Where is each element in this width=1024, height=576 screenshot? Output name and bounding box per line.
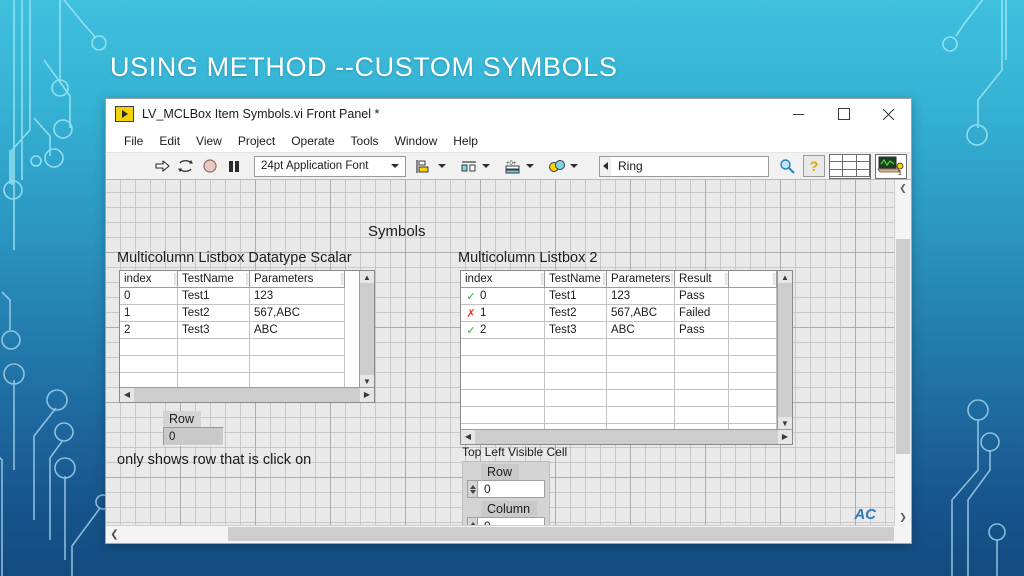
run-arrow-icon[interactable] <box>150 155 174 177</box>
front-panel-area: Symbols Multicolumn Listbox Datatype Sca… <box>106 180 911 543</box>
cell-index-value: 0 <box>480 290 486 302</box>
context-help-icon[interactable]: ? <box>803 155 825 177</box>
scroll-down-icon[interactable]: ▼ <box>360 375 374 387</box>
align-objects-icon <box>416 159 434 174</box>
table-row: ✓ 0 Test1 123 Pass <box>461 288 777 305</box>
cell-blank[interactable] <box>729 288 777 305</box>
font-selector-value: 24pt Application Font <box>261 160 387 172</box>
pass-check-icon: ✓ <box>465 290 477 303</box>
tlvc-column-value[interactable]: 0 <box>477 517 545 525</box>
column-header-blank[interactable] <box>729 271 777 288</box>
reorder-objects-icon <box>548 159 566 174</box>
note-label: only shows row that is click on <box>117 452 311 468</box>
scrollbar-corner <box>894 526 910 543</box>
table-row: 2 Test3 ABC <box>120 322 359 339</box>
hscroll-track[interactable] <box>123 526 894 543</box>
scroll-up-icon[interactable]: ▲ <box>778 271 792 283</box>
scroll-left-icon[interactable]: ❮ <box>106 529 123 540</box>
cell-index-value: 1 <box>480 307 486 319</box>
cell-index[interactable]: ✓ 2 <box>461 322 545 339</box>
cell-result[interactable]: Pass <box>675 288 729 305</box>
chevron-down-icon <box>438 164 446 168</box>
cell-testname[interactable]: Test2 <box>178 305 250 322</box>
cell-testname[interactable]: Test1 <box>178 288 250 305</box>
menu-item-project[interactable]: Project <box>230 132 283 150</box>
multicolumn-listbox-2[interactable]: index TestName Parameters Result ✓ <box>460 270 793 445</box>
table-row-empty <box>461 339 777 356</box>
slide: USING METHOD --CUSTOM SYMBOLS LV_MCLBox … <box>0 0 1024 576</box>
ac-watermark: AC <box>854 506 876 523</box>
panel-vertical-scrollbar[interactable]: ❮ ❯ <box>894 180 911 526</box>
vi-thumbnail-badge: 1 <box>898 170 902 176</box>
scroll-left-icon[interactable]: ◀ <box>461 430 475 444</box>
window-grid-icon[interactable] <box>829 154 871 179</box>
row-indicator-label: Row <box>163 411 201 427</box>
table-row: 1 Test2 567,ABC <box>120 305 359 322</box>
column-header-result[interactable]: Result <box>675 271 729 288</box>
menu-item-help[interactable]: Help <box>445 132 486 150</box>
pause-icon[interactable] <box>222 155 246 177</box>
scroll-down-icon[interactable]: ▼ <box>778 417 792 429</box>
cell-result[interactable]: Pass <box>675 322 729 339</box>
cell-parameters[interactable]: 123 <box>607 288 675 305</box>
distribute-objects-icon <box>460 159 478 174</box>
chevron-down-icon <box>570 164 578 168</box>
window-title: LV_MCLBox Item Symbols.vi Front Panel * <box>142 107 379 121</box>
maximize-button[interactable] <box>821 99 866 129</box>
search-icon[interactable] <box>775 155 799 177</box>
vi-connector-pane-icon[interactable]: 1 <box>875 154 907 179</box>
top-left-visible-cell-label: Top Left Visible Cell <box>462 445 567 459</box>
column-header-index[interactable]: index <box>120 271 178 288</box>
menu-bar: File Edit View Project Operate Tools Win… <box>106 130 911 153</box>
cell-parameters[interactable]: ABC <box>607 322 675 339</box>
right-listbox-label: Multicolumn Listbox 2 <box>458 250 597 266</box>
toolbar: 24pt Application Font <box>106 153 911 180</box>
circuit-decoration-left <box>0 0 120 576</box>
scroll-right-icon[interactable]: ▶ <box>360 388 374 402</box>
fail-cross-icon: ✗ <box>465 307 477 320</box>
cell-index-value: 2 <box>480 324 486 336</box>
menu-item-operate[interactable]: Operate <box>283 132 342 150</box>
table-header-row: index TestName Parameters Result <box>461 271 777 288</box>
column-header-parameters[interactable]: Parameters <box>607 271 675 288</box>
reorder-objects-button[interactable] <box>548 159 582 174</box>
column-header-testname[interactable]: TestName <box>178 271 250 288</box>
circuit-decoration-right <box>894 0 1024 576</box>
cell-index[interactable]: 0 <box>120 288 178 305</box>
table-row-empty <box>120 356 359 373</box>
tlvc-row-value[interactable]: 0 <box>477 480 545 498</box>
cell-blank[interactable] <box>729 322 777 339</box>
menu-item-edit[interactable]: Edit <box>151 132 188 150</box>
pass-check-icon: ✓ <box>465 324 477 337</box>
menu-item-view[interactable]: View <box>188 132 230 150</box>
listbox-vertical-scrollbar[interactable]: ▲ ▼ <box>777 271 792 429</box>
close-button[interactable] <box>866 99 911 129</box>
tlvc-row-label: Row <box>481 464 519 480</box>
top-left-visible-cell-group: Top Left Visible Cell Row 0 Column 0 <box>462 445 567 525</box>
row-indicator-value: 0 <box>163 427 224 446</box>
listbox-horizontal-scrollbar[interactable]: ◀ ▶ <box>461 429 792 444</box>
cell-parameters[interactable]: ABC <box>250 322 345 339</box>
multicolumn-listbox-datatype-scalar[interactable]: index TestName Parameters 0 Test1 123 <box>119 270 375 403</box>
cell-blank[interactable] <box>729 305 777 322</box>
cluster-container: Row 0 Column 0 <box>462 461 550 525</box>
listbox-vertical-scrollbar[interactable]: ▲ ▼ <box>359 271 374 387</box>
chevron-down-icon <box>482 164 490 168</box>
cell-testname[interactable]: Test2 <box>545 305 607 322</box>
column-spin-buttons[interactable] <box>467 517 477 525</box>
symbols-label: Symbols <box>368 223 426 240</box>
labview-window: LV_MCLBox Item Symbols.vi Front Panel * … <box>105 98 912 544</box>
scroll-left-icon[interactable]: ◀ <box>120 388 134 402</box>
toolbar-right-group: ? 1 <box>775 154 907 179</box>
scroll-up-icon[interactable]: ▲ <box>360 271 374 283</box>
run-continuously-icon[interactable] <box>174 155 198 177</box>
table-row: ✗ 1 Test2 567,ABC Failed <box>461 305 777 322</box>
resize-objects-icon: +0+ <box>504 159 522 174</box>
column-header-testname[interactable]: TestName <box>545 271 607 288</box>
cell-index[interactable]: 1 <box>120 305 178 322</box>
listbox-horizontal-scrollbar[interactable]: ◀ ▶ <box>120 387 374 402</box>
ring-control[interactable]: Ring <box>611 156 769 177</box>
minimize-button[interactable] <box>776 99 821 129</box>
row-indicator-group: Row 0 <box>163 411 224 446</box>
table-row-empty <box>461 356 777 373</box>
cell-parameters[interactable]: 567,ABC <box>607 305 675 322</box>
font-selector[interactable]: 24pt Application Font <box>254 156 406 177</box>
close-icon <box>883 109 894 120</box>
front-panel-canvas[interactable]: Symbols Multicolumn Listbox Datatype Sca… <box>106 180 894 525</box>
tlvc-row-numeric[interactable]: 0 <box>467 480 545 498</box>
distribute-objects-button[interactable] <box>460 159 494 174</box>
cell-testname[interactable]: Test3 <box>178 322 250 339</box>
resize-objects-button[interactable]: +0+ <box>504 159 538 174</box>
panel-horizontal-scrollbar[interactable]: ❮ <box>106 525 894 543</box>
chevron-down-icon <box>526 164 534 168</box>
table-row-empty <box>461 373 777 390</box>
row-spin-buttons[interactable] <box>467 480 477 498</box>
table-row-empty <box>120 339 359 356</box>
menu-item-file[interactable]: File <box>116 132 151 150</box>
tlvc-column-label: Column <box>481 501 537 517</box>
labview-vi-icon <box>115 106 134 122</box>
menu-item-window[interactable]: Window <box>387 132 446 150</box>
cell-parameters[interactable]: 123 <box>250 288 345 305</box>
column-header-parameters[interactable]: Parameters <box>250 271 345 288</box>
page-title: USING METHOD --CUSTOM SYMBOLS <box>110 52 617 83</box>
vscroll-track[interactable] <box>895 197 911 509</box>
ring-control-area: Ring <box>599 156 769 177</box>
chevron-down-icon <box>391 164 399 168</box>
cell-result[interactable]: Failed <box>675 305 729 322</box>
left-listbox-label: Multicolumn Listbox Datatype Scalar <box>117 250 352 266</box>
ring-previous-button[interactable] <box>599 156 611 177</box>
table-row: 0 Test1 123 <box>120 288 359 305</box>
cell-testname[interactable]: Test3 <box>545 322 607 339</box>
window-titlebar[interactable]: LV_MCLBox Item Symbols.vi Front Panel * <box>106 99 911 130</box>
menu-item-tools[interactable]: Tools <box>343 132 387 150</box>
column-header-index[interactable]: index <box>461 271 545 288</box>
cell-testname[interactable]: Test1 <box>545 288 607 305</box>
table-row-empty <box>461 407 777 424</box>
table-row: ✓ 2 Test3 ABC Pass <box>461 322 777 339</box>
scroll-up-icon[interactable]: ❮ <box>895 180 911 197</box>
table-header-row: index TestName Parameters <box>120 271 359 288</box>
align-objects-button[interactable] <box>416 159 450 174</box>
window-control-buttons <box>776 99 911 129</box>
tlvc-column-numeric[interactable]: 0 <box>467 517 545 525</box>
table-row-empty <box>461 390 777 407</box>
abort-execution-icon[interactable] <box>198 155 222 177</box>
scroll-right-icon[interactable]: ▶ <box>778 430 792 444</box>
scroll-down-icon[interactable]: ❯ <box>895 509 911 526</box>
cell-parameters[interactable]: 567,ABC <box>250 305 345 322</box>
cell-index[interactable]: ✗ 1 <box>461 305 545 322</box>
cell-index[interactable]: ✓ 0 <box>461 288 545 305</box>
cell-index[interactable]: 2 <box>120 322 178 339</box>
